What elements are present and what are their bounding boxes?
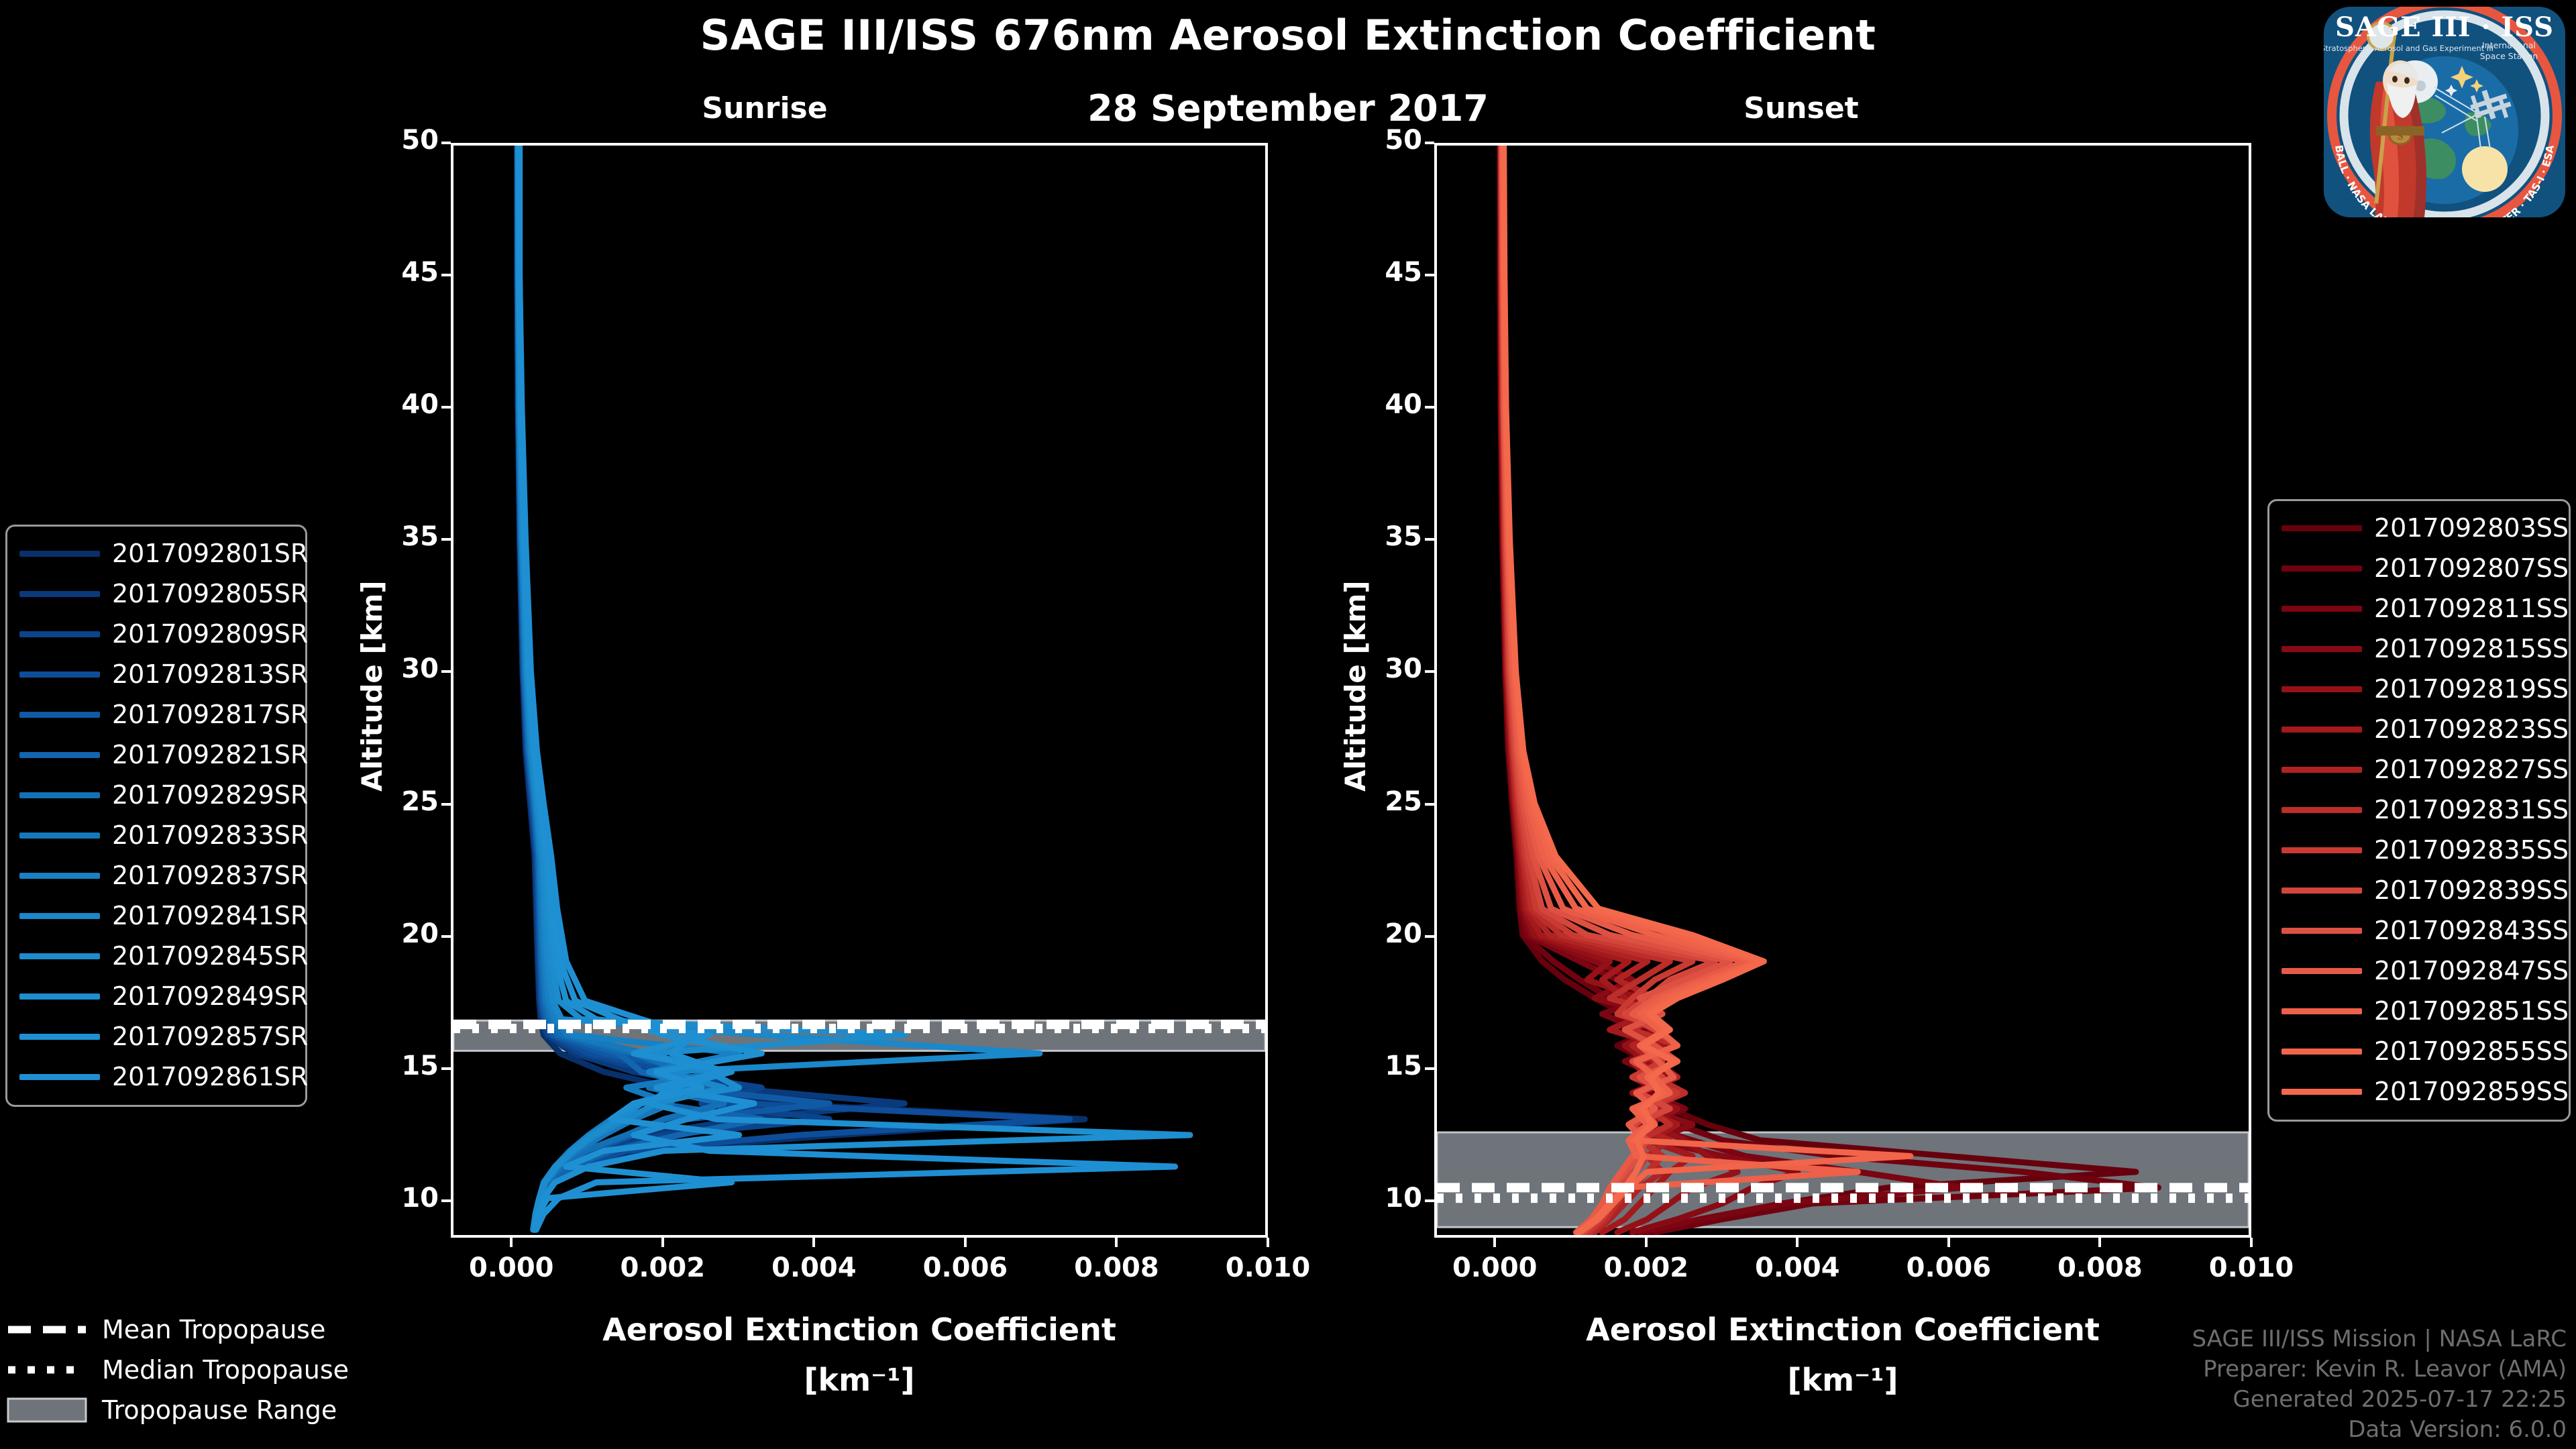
legend-item-label: 2017092829SR bbox=[112, 780, 308, 810]
x-axis-tick-label-sunrise: 0.004 bbox=[740, 1252, 888, 1283]
legend-item-label: 2017092827SS bbox=[2374, 755, 2569, 784]
x-axis-tick-mark bbox=[661, 1238, 664, 1247]
legend-item-label: 2017092809SR bbox=[112, 619, 308, 649]
y-axis-tick-mark bbox=[441, 274, 451, 276]
legend-color-swatch bbox=[19, 1074, 100, 1080]
legend-item-sunset[interactable]: 2017092827SS bbox=[2282, 749, 2557, 790]
legend-item-sunrise[interactable]: 2017092829SR bbox=[19, 775, 293, 815]
legend-color-swatch bbox=[2282, 767, 2362, 773]
y-axis-tick-label-sunrise: 15 bbox=[352, 1051, 439, 1081]
profile-line bbox=[1500, 146, 2158, 1232]
legend-item-sunrise[interactable]: 2017092821SR bbox=[19, 735, 293, 775]
legend-color-swatch bbox=[19, 913, 100, 919]
legend-item-label: 2017092807SS bbox=[2374, 553, 2569, 583]
y-axis-tick-mark bbox=[441, 406, 451, 409]
y-axis-tick-label-sunset: 15 bbox=[1335, 1051, 1422, 1081]
legend-color-swatch bbox=[2282, 727, 2362, 733]
dotted-line-icon bbox=[7, 1361, 87, 1379]
y-axis-tick-label-sunset: 35 bbox=[1335, 521, 1422, 552]
y-axis-tick-label-sunrise: 45 bbox=[352, 257, 439, 288]
legend-color-swatch bbox=[2282, 646, 2362, 652]
legend-item-sunrise[interactable]: 2017092837SR bbox=[19, 855, 293, 896]
legend-item-tropopause-range: Tropopause Range bbox=[7, 1390, 349, 1430]
profile-line bbox=[1500, 146, 1963, 1232]
sunrise-panel-label: Sunrise bbox=[684, 91, 845, 125]
y-axis-tick-mark bbox=[441, 538, 451, 541]
y-axis-tick-mark bbox=[1425, 142, 1434, 144]
legend-label-tropopause-range: Tropopause Range bbox=[102, 1395, 337, 1425]
legend-item-sunset[interactable]: 2017092831SS bbox=[2282, 790, 2557, 830]
legend-color-swatch bbox=[19, 873, 100, 879]
x-axis-tick-label-sunrise: 0.002 bbox=[589, 1252, 737, 1283]
sunset-panel-label: Sunset bbox=[1717, 91, 1885, 125]
legend-item-sunset[interactable]: 2017092847SS bbox=[2282, 951, 2557, 991]
sunset-plot-panel[interactable] bbox=[1434, 143, 2251, 1238]
legend-color-swatch bbox=[19, 833, 100, 839]
sunset-x-axis-label: Aerosol Extinction Coefficient bbox=[1434, 1311, 2251, 1348]
y-axis-tick-mark bbox=[441, 803, 451, 806]
x-axis-tick-mark bbox=[1267, 1238, 1269, 1247]
legend-item-label: 2017092855SS bbox=[2374, 1036, 2569, 1066]
legend-item-label: 2017092821SR bbox=[112, 740, 308, 769]
sunrise-plot-area bbox=[453, 146, 1265, 1235]
y-axis-tick-mark bbox=[441, 935, 451, 938]
legend-item-sunset[interactable]: 2017092811SS bbox=[2282, 588, 2557, 629]
legend-item-label: 2017092831SS bbox=[2374, 795, 2569, 824]
y-axis-tick-mark bbox=[1425, 803, 1434, 806]
logo-subtitle-right-2: Space Station bbox=[2480, 51, 2538, 61]
x-axis-tick-mark bbox=[1115, 1238, 1118, 1247]
legend-item-sunrise[interactable]: 2017092809SR bbox=[19, 614, 293, 654]
legend-item-sunset[interactable]: 2017092839SS bbox=[2282, 870, 2557, 910]
legend-item-sunset[interactable]: 2017092815SS bbox=[2282, 629, 2557, 669]
y-axis-tick-mark bbox=[441, 1067, 451, 1070]
y-axis-tick-label-sunset: 20 bbox=[1335, 918, 1422, 949]
legend-item-sunset[interactable]: 2017092855SS bbox=[2282, 1031, 2557, 1071]
legend-item-sunrise[interactable]: 2017092849SR bbox=[19, 976, 293, 1016]
y-axis-tick-label-sunset: 45 bbox=[1335, 257, 1422, 288]
legend-item-sunset[interactable]: 2017092803SS bbox=[2282, 508, 2557, 548]
legend-color-swatch bbox=[2282, 928, 2362, 934]
legend-color-swatch bbox=[2282, 686, 2362, 692]
legend-item-label: 2017092857SR bbox=[112, 1022, 308, 1051]
profile-line bbox=[1502, 146, 1729, 1232]
y-axis-tick-label-sunrise: 40 bbox=[352, 389, 439, 420]
logo-subtitle-right-1: International bbox=[2482, 40, 2536, 50]
legend-color-swatch bbox=[19, 994, 100, 1000]
legend-item-sunrise[interactable]: 2017092813SR bbox=[19, 654, 293, 694]
legend-item-label: 2017092803SS bbox=[2374, 513, 2569, 543]
legend-item-sunrise[interactable]: 2017092845SR bbox=[19, 936, 293, 976]
y-axis-tick-mark bbox=[1425, 670, 1434, 673]
legend-item-sunrise[interactable]: 2017092833SR bbox=[19, 815, 293, 855]
legend-color-swatch bbox=[19, 551, 100, 557]
legend-color-swatch bbox=[19, 631, 100, 637]
footer-generated: Generated 2025-07-17 22:25 bbox=[2192, 1385, 2567, 1415]
x-axis-tick-label-sunset: 0.000 bbox=[1421, 1252, 1568, 1283]
legend-label-median-tropopause: Median Tropopause bbox=[102, 1355, 349, 1385]
profile-line bbox=[1501, 146, 1737, 1232]
logo-subtitle-left: Stratospheric Aerosol and Gas Experiment… bbox=[2320, 44, 2493, 53]
legend-item-label: 2017092839SS bbox=[2374, 875, 2569, 905]
x-axis-tick-mark bbox=[1947, 1238, 1950, 1247]
legend-color-swatch bbox=[2282, 1008, 2362, 1014]
y-axis-tick-label-sunrise: 25 bbox=[352, 786, 439, 817]
filled-band-icon bbox=[7, 1397, 87, 1424]
x-axis-tick-mark bbox=[1645, 1238, 1648, 1247]
legend-item-sunrise[interactable]: 2017092801SR bbox=[19, 533, 293, 574]
sunrise-legend[interactable]: 2017092801SR2017092805SR2017092809SR2017… bbox=[5, 525, 307, 1107]
y-axis-tick-mark bbox=[1425, 538, 1434, 541]
legend-item-sunset[interactable]: 2017092823SS bbox=[2282, 709, 2557, 749]
sunrise-x-axis-unit: [km⁻¹] bbox=[451, 1362, 1268, 1398]
y-axis-tick-label-sunrise: 20 bbox=[352, 918, 439, 949]
legend-item-label: 2017092851SS bbox=[2374, 996, 2569, 1026]
legend-item-sunrise[interactable]: 2017092805SR bbox=[19, 574, 293, 614]
legend-item-label: 2017092813SR bbox=[112, 659, 308, 689]
legend-item-sunrise[interactable]: 2017092817SR bbox=[19, 694, 293, 735]
legend-color-swatch bbox=[2282, 566, 2362, 572]
y-axis-tick-mark bbox=[1425, 274, 1434, 276]
footer-mission: SAGE III/ISS Mission | NASA LaRC bbox=[2192, 1324, 2567, 1354]
y-axis-tick-mark bbox=[441, 142, 451, 144]
legend-color-swatch bbox=[19, 752, 100, 758]
legend-item-label: 2017092823SS bbox=[2374, 714, 2569, 744]
x-axis-tick-mark bbox=[964, 1238, 967, 1247]
x-axis-tick-label-sunrise: 0.006 bbox=[892, 1252, 1039, 1283]
legend-item-label: 2017092847SS bbox=[2374, 956, 2569, 985]
x-axis-tick-mark bbox=[1493, 1238, 1496, 1247]
legend-color-swatch bbox=[2282, 1089, 2362, 1095]
legend-item-label: 2017092805SR bbox=[112, 579, 308, 608]
y-axis-tick-label-sunset: 50 bbox=[1335, 125, 1422, 156]
profile-line bbox=[1501, 146, 1715, 1232]
x-axis-tick-label-sunset: 0.008 bbox=[2026, 1252, 2173, 1283]
legend-item-label: 2017092861SR bbox=[112, 1062, 308, 1091]
legend-item-label: 2017092841SR bbox=[112, 901, 308, 930]
legend-color-swatch bbox=[2282, 525, 2362, 531]
legend-color-swatch bbox=[2282, 888, 2362, 894]
legend-item-sunrise[interactable]: 2017092857SR bbox=[19, 1016, 293, 1057]
legend-item-label: 2017092845SR bbox=[112, 941, 308, 971]
page-title: SAGE III/ISS 676nm Aerosol Extinction Co… bbox=[0, 11, 2576, 60]
y-axis-tick-mark bbox=[441, 1199, 451, 1202]
y-axis-tick-mark bbox=[1425, 1199, 1434, 1202]
y-axis-tick-label-sunset: 25 bbox=[1335, 786, 1422, 817]
legend-item-label: 2017092811SS bbox=[2374, 594, 2569, 623]
y-axis-tick-label-sunrise: 10 bbox=[352, 1183, 439, 1214]
legend-item-label: 2017092843SS bbox=[2374, 916, 2569, 945]
legend-color-swatch bbox=[2282, 968, 2362, 974]
profile-line bbox=[1503, 146, 1858, 1232]
sunset-legend[interactable]: 2017092803SS2017092807SS2017092811SS2017… bbox=[2267, 499, 2571, 1122]
legend-color-swatch bbox=[2282, 807, 2362, 813]
x-axis-tick-mark bbox=[812, 1238, 815, 1247]
legend-color-swatch bbox=[19, 591, 100, 597]
footer-preparer: Preparer: Kevin R. Leavor (AMA) bbox=[2192, 1354, 2567, 1385]
legend-item-sunset[interactable]: 2017092835SS bbox=[2282, 830, 2557, 870]
legend-item-sunset[interactable]: 2017092859SS bbox=[2282, 1071, 2557, 1112]
sunrise-x-axis-label: Aerosol Extinction Coefficient bbox=[451, 1311, 1268, 1348]
profile-line bbox=[1503, 146, 1911, 1232]
legend-item-label: 2017092859SS bbox=[2374, 1077, 2569, 1106]
legend-item-label: 2017092801SR bbox=[112, 539, 308, 568]
page-subtitle: 28 September 2017 bbox=[0, 87, 2576, 129]
footer-data-version: Data Version: 6.0.0 bbox=[2192, 1415, 2567, 1445]
sunrise-y-axis-label: Altitude [km] bbox=[356, 580, 388, 792]
x-axis-tick-label-sunset: 0.006 bbox=[1875, 1252, 2023, 1283]
legend-color-swatch bbox=[2282, 1049, 2362, 1055]
dashed-line-icon bbox=[7, 1321, 87, 1338]
profile-line bbox=[1502, 146, 1745, 1232]
sunset-y-axis-label: Altitude [km] bbox=[1339, 580, 1372, 792]
legend-item-sunrise[interactable]: 2017092841SR bbox=[19, 896, 293, 936]
x-axis-tick-label-sunrise: 0.000 bbox=[437, 1252, 585, 1283]
legend-item-sunset[interactable]: 2017092807SS bbox=[2282, 548, 2557, 588]
y-axis-tick-mark bbox=[1425, 1067, 1434, 1070]
tropopause-legend: Mean Tropopause Median Tropopause Tropop… bbox=[7, 1309, 349, 1430]
legend-item-sunrise[interactable]: 2017092861SR bbox=[19, 1057, 293, 1097]
legend-color-swatch bbox=[19, 672, 100, 678]
legend-item-label: 2017092837SR bbox=[112, 861, 308, 890]
legend-item-sunset[interactable]: 2017092851SS bbox=[2282, 991, 2557, 1031]
legend-item-sunset[interactable]: 2017092843SS bbox=[2282, 910, 2557, 951]
x-axis-tick-mark bbox=[2250, 1238, 2253, 1247]
legend-item-sunset[interactable]: 2017092819SS bbox=[2282, 669, 2557, 709]
legend-color-swatch bbox=[19, 1034, 100, 1040]
legend-label-mean-tropopause: Mean Tropopause bbox=[102, 1315, 325, 1344]
x-axis-tick-label-sunset: 0.010 bbox=[2178, 1252, 2325, 1283]
legend-item-label: 2017092817SR bbox=[112, 700, 308, 729]
sunset-x-axis-unit: [km⁻¹] bbox=[1434, 1362, 2251, 1398]
footer-credits: SAGE III/ISS Mission | NASA LaRC Prepare… bbox=[2192, 1324, 2567, 1445]
legend-color-swatch bbox=[2282, 847, 2362, 853]
legend-item-label: 2017092815SS bbox=[2374, 634, 2569, 663]
sunrise-plot-panel[interactable] bbox=[451, 143, 1268, 1238]
x-axis-tick-label-sunrise: 0.010 bbox=[1194, 1252, 1342, 1283]
legend-color-swatch bbox=[19, 953, 100, 959]
legend-item-label: 2017092819SS bbox=[2374, 674, 2569, 704]
sage-iii-iss-mission-patch-logo: S SAGE III · ISS Stratospheric Aerosol a… bbox=[2275, 1, 2575, 217]
legend-color-swatch bbox=[2282, 606, 2362, 612]
legend-item-mean-tropopause: Mean Tropopause bbox=[7, 1309, 349, 1350]
x-axis-tick-label-sunset: 0.004 bbox=[1723, 1252, 1871, 1283]
legend-item-median-tropopause: Median Tropopause bbox=[7, 1350, 349, 1390]
legend-item-label: 2017092849SR bbox=[112, 981, 308, 1011]
y-axis-tick-mark bbox=[1425, 406, 1434, 409]
y-axis-tick-label-sunset: 30 bbox=[1335, 653, 1422, 684]
legend-color-swatch bbox=[19, 712, 100, 718]
x-axis-tick-mark bbox=[1796, 1238, 1799, 1247]
x-axis-tick-mark bbox=[510, 1238, 513, 1247]
legend-item-label: 2017092835SS bbox=[2374, 835, 2569, 865]
profile-line bbox=[1500, 146, 2136, 1232]
sunset-plot-area bbox=[1437, 146, 2249, 1235]
profile-line bbox=[1504, 146, 1764, 1232]
x-axis-tick-label-sunset: 0.002 bbox=[1572, 1252, 1720, 1283]
y-axis-tick-label-sunrise: 35 bbox=[352, 521, 439, 552]
legend-color-swatch bbox=[19, 792, 100, 798]
x-axis-tick-label-sunrise: 0.008 bbox=[1042, 1252, 1190, 1283]
y-axis-tick-label-sunset: 10 bbox=[1335, 1183, 1422, 1214]
y-axis-tick-label-sunrise: 50 bbox=[352, 125, 439, 156]
x-axis-tick-mark bbox=[2098, 1238, 2101, 1247]
y-axis-tick-mark bbox=[441, 670, 451, 673]
y-axis-tick-label-sunset: 40 bbox=[1335, 389, 1422, 420]
legend-item-label: 2017092833SR bbox=[112, 820, 308, 850]
y-axis-tick-label-sunrise: 30 bbox=[352, 653, 439, 684]
logo-title: SAGE III · ISS bbox=[2335, 11, 2554, 43]
y-axis-tick-mark bbox=[1425, 935, 1434, 938]
